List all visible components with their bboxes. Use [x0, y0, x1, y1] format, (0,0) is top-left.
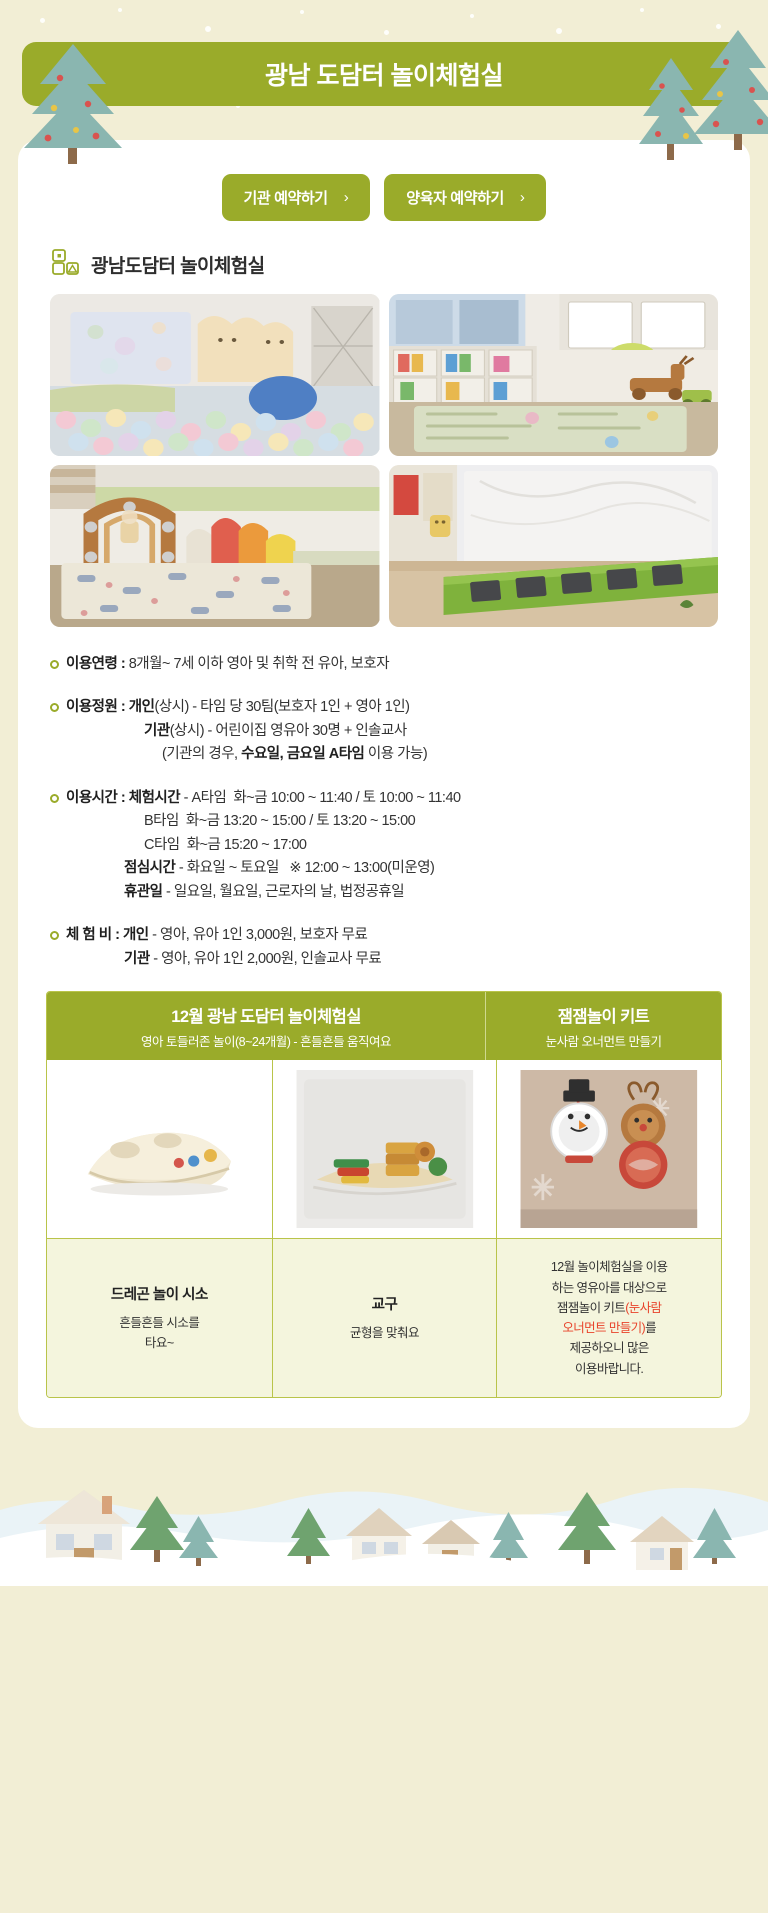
program-caption-cell-3: 12월 놀이체험실을 이용 하는 영유아를 대상으로 잼잼놀이 키트(눈사람 오… [496, 1239, 721, 1397]
info-label-age: 이용연령 : [66, 656, 125, 672]
capacity-individual-value: (상시) - 타임 당 30팀(보호자 1인 + 영아 1인) [154, 699, 409, 715]
capacity-institution-label: 기관 [144, 723, 170, 739]
christmas-tree-icon [690, 26, 768, 154]
main-card: 기관 예약하기 › 양육자 예약하기 › 광남도담터 놀이체험실 [18, 140, 750, 1428]
info-label-hours: 이용시간 : [66, 790, 125, 806]
page-footer-illustration [0, 1446, 768, 1586]
program-kit-note: 12월 놀이체험실을 이용 하는 영유아를 대상으로 잼잼놀이 키트(눈사람 오… [507, 1257, 711, 1379]
snow-dot [470, 14, 474, 18]
capacity-note-days: 수요일, 금요일 A타임 [241, 746, 364, 762]
info-row-capacity: 이용정원 : 개인(상시) - 타임 당 30팀(보호자 1인 + 영아 1인)… [50, 696, 718, 766]
info-row-age: 이용연령 : 8개월~ 7세 이하 영아 및 취학 전 유아, 보호자 [50, 653, 718, 676]
program-header-right-title: 잼잼놀이 키트 [492, 1003, 715, 1027]
projection-wall-photo [389, 465, 719, 627]
info-label-capacity: 이용정원 : [66, 699, 125, 715]
program-caption-title-2: 교구 [283, 1293, 487, 1314]
program-caption-sub-2: 균형을 맞춰요 [283, 1324, 487, 1343]
snow-dot [300, 10, 304, 14]
capacity-individual-label: 개인 [125, 699, 154, 715]
blocks-icon [52, 249, 82, 280]
program-header-right: 잼잼놀이 키트 눈사람 오너먼트 만들기 [485, 992, 721, 1060]
program-header-left-sub: 영아 토들러존 놀이(8~24개월) - 흔들흔들 움직여요 [53, 1031, 479, 1050]
snow-dot [118, 8, 122, 12]
hours-time-c: C타임 화~금 15:20 ~ 17:00 [144, 837, 306, 853]
ball-pool-photo [50, 294, 380, 456]
program-header-left-title: 12월 광남 도담터 놀이체험실 [53, 1003, 479, 1027]
info-row-fee: 체 험 비 : 개인 - 영아, 유아 1인 3,000원, 보호자 무료 기관… [50, 924, 718, 971]
snow-dot [205, 26, 211, 32]
info-body-fee: 체 험 비 : 개인 - 영아, 유아 1인 3,000원, 보호자 무료 기관… [66, 924, 381, 971]
bullet-dot-icon [50, 794, 59, 803]
program-caption-row: 드레곤 놀이 시소 흔들흔들 시소를 타요~ 교구 균형을 맞춰요 12월 놀이… [47, 1238, 721, 1397]
snow-dot [384, 30, 389, 35]
toy-room-photo [389, 294, 719, 456]
hours-closed-label: 휴관일 [124, 884, 163, 900]
program-caption-sub-1: 흔들흔들 시소를 타요~ [57, 1314, 262, 1353]
program-caption-cell-2: 교구 균형을 맞춰요 [272, 1239, 497, 1397]
program-caption-cell-1: 드레곤 놀이 시소 흔들흔들 시소를 타요~ [47, 1239, 272, 1397]
info-body-hours: 이용시간 : 체험시간 - A타임 화~금 10:00 ~ 11:40 / 토 … [66, 787, 461, 904]
page-root: 광남 도담터 놀이체험실 기관 예약하기 › 양육자 예약하기 › [0, 0, 768, 1913]
info-body-age: 이용연령 : 8개월~ 7세 이하 영아 및 취학 전 유아, 보호자 [66, 653, 389, 676]
fee-individual-label: 개인 [119, 927, 148, 943]
program-table-header: 12월 광남 도담터 놀이체험실 영아 토들러존 놀이(8~24개월) - 흔들… [47, 992, 721, 1060]
facility-info-list: 이용연령 : 8개월~ 7세 이하 영아 및 취학 전 유아, 보호자 이용정원… [18, 627, 750, 971]
hours-experience-label: 체험시간 [125, 790, 180, 806]
program-image-row [47, 1060, 721, 1238]
capacity-note-post: 이용 가능) [364, 746, 427, 762]
info-value-age: 8개월~ 7세 이하 영아 및 취학 전 유아, 보호자 [125, 656, 389, 672]
climbing-play-photo [50, 465, 380, 627]
program-header-right-sub: 눈사람 오너먼트 만들기 [492, 1031, 715, 1050]
program-caption-title-1: 드레곤 놀이 시소 [57, 1283, 262, 1304]
snow-dot [556, 28, 562, 34]
institution-reservation-button[interactable]: 기관 예약하기 › [222, 174, 371, 221]
hours-time-b: B타임 화~금 13:20 ~ 15:00 / 토 13:20 ~ 15:00 [144, 813, 415, 829]
hours-lunch-label: 점심시간 [124, 860, 175, 876]
info-label-fee: 체 험 비 : [66, 927, 119, 943]
capacity-institution-value: (상시) - 어린이집 영유아 30명 + 인솔교사 [170, 723, 407, 739]
capacity-note-pre: (기관의 경우, [162, 746, 241, 762]
info-row-hours: 이용시간 : 체험시간 - A타임 화~금 10:00 ~ 11:40 / 토 … [50, 787, 718, 904]
bullet-dot-icon [50, 660, 59, 669]
info-body-capacity: 이용정원 : 개인(상시) - 타임 당 30팀(보호자 1인 + 영아 1인)… [66, 696, 427, 766]
chevron-right-icon: › [344, 189, 349, 206]
fee-institution-label: 기관 [124, 951, 150, 967]
hours-closed-value: - 일요일, 월요일, 근로자의 날, 법정공휴일 [163, 884, 405, 900]
dragon-seesaw-photo [47, 1060, 272, 1238]
guardian-reservation-label: 양육자 예약하기 [406, 187, 504, 208]
page-header: 광남 도담터 놀이체험실 [0, 0, 768, 140]
section-title-text: 광남도담터 놀이체험실 [91, 251, 264, 278]
photo-grid [18, 294, 750, 627]
bullet-dot-icon [50, 931, 59, 940]
guardian-reservation-button[interactable]: 양육자 예약하기 › [384, 174, 546, 221]
hours-lunch-value: - 화요일 ~ 토요일 ※ 12:00 ~ 13:00(미운영) [175, 860, 434, 876]
page-title: 광남 도담터 놀이체험실 [265, 56, 503, 92]
christmas-tree-icon [18, 38, 128, 168]
snow-dot [40, 18, 45, 23]
fee-individual-value: - 영아, 유아 1인 3,000원, 보호자 무료 [149, 927, 368, 943]
snow-dot [640, 8, 644, 12]
program-table: 12월 광남 도담터 놀이체험실 영아 토들러존 놀이(8~24개월) - 흔들… [46, 991, 722, 1398]
bullet-dot-icon [50, 703, 59, 712]
hours-time-a: - A타임 화~금 10:00 ~ 11:40 / 토 10:00 ~ 11:4… [180, 790, 460, 806]
section-heading: 광남도담터 놀이체험실 [18, 249, 750, 280]
reservation-button-row: 기관 예약하기 › 양육자 예약하기 › [18, 174, 750, 221]
snowman-ornament-photo [496, 1060, 721, 1238]
fee-institution-value: - 영아, 유아 1인 2,000원, 인솔교사 무료 [150, 951, 382, 967]
balance-toy-photo [272, 1060, 497, 1238]
institution-reservation-label: 기관 예약하기 [244, 187, 328, 208]
program-header-left: 12월 광남 도담터 놀이체험실 영아 토들러존 놀이(8~24개월) - 흔들… [47, 992, 485, 1060]
chevron-right-icon: › [520, 189, 525, 206]
